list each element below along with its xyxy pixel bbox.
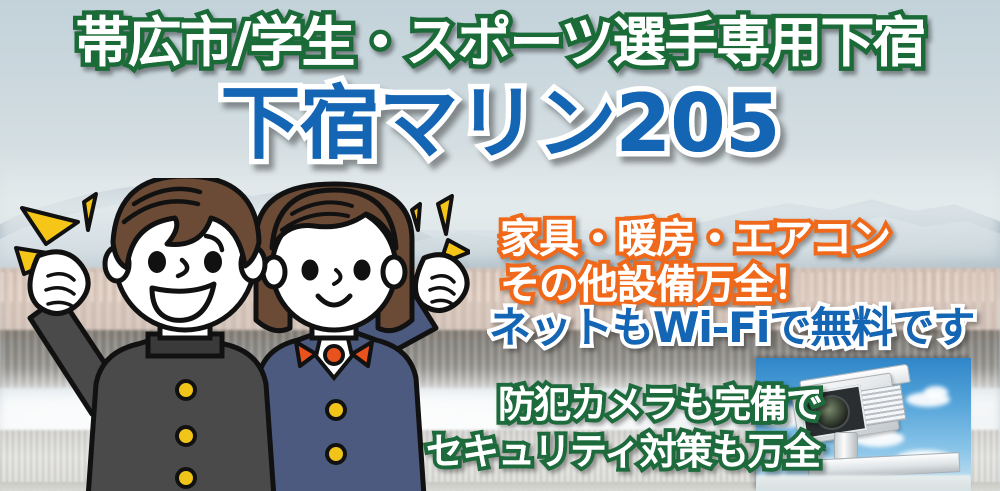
- feature-line-1-fill: 家具・暖房・エアコン: [500, 219, 890, 259]
- page-headline-fill: 帯広市/学生・スポーツ選手専用下宿: [76, 16, 925, 70]
- student-characters-illustration: [0, 178, 470, 491]
- security-line-1-fill: 防犯カメラも完備で: [498, 386, 822, 423]
- lodging-advertisement-banner: 帯広市/学生・スポーツ選手専用下宿 帯広市/学生・スポーツ選手専用下宿 下宿マリ…: [0, 0, 1000, 491]
- feature-line-2-fill: その他設備万全！: [500, 265, 812, 305]
- feature-line-wifi-fill: ネットもWi-Fiで無料です: [489, 307, 974, 349]
- page-title-fill: 下宿マリン205: [221, 84, 780, 164]
- security-line-2-fill: セキュリティ対策も万全: [426, 433, 820, 470]
